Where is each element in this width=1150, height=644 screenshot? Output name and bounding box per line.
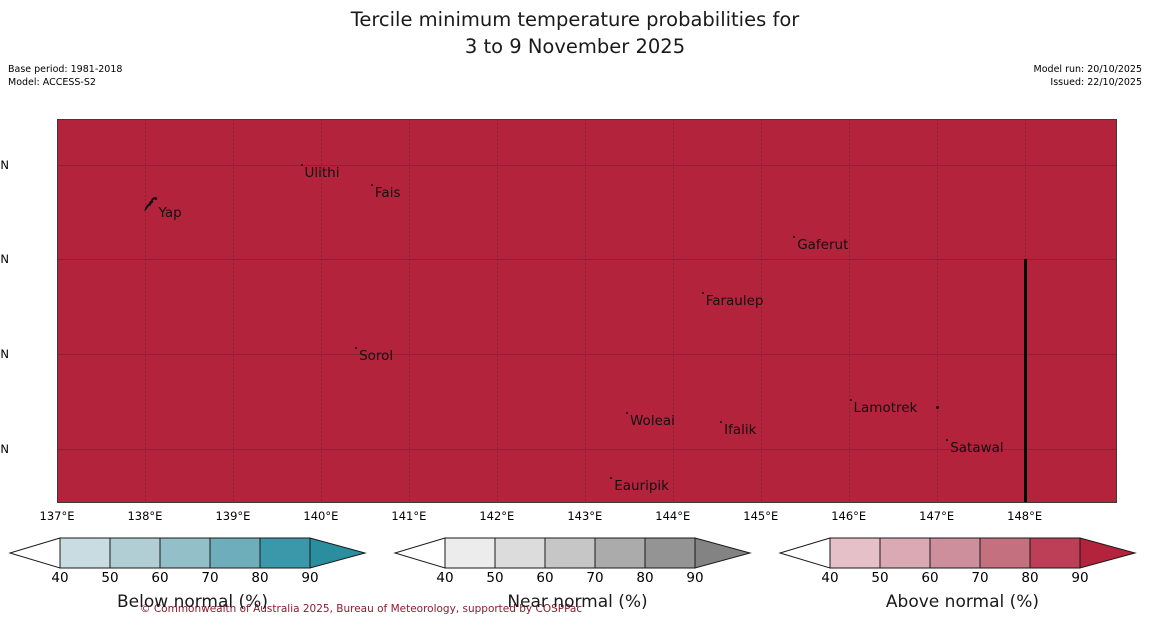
metadata-right: Model run: 20/10/2025 Issued: 22/10/2025: [1034, 64, 1142, 89]
colorbar-tick-above-normal-80: 80: [1021, 570, 1038, 586]
gridline-lon-137: [57, 119, 58, 503]
gridline-lon-138: [145, 119, 146, 503]
lat-tick-label-10: 10°N: [0, 158, 9, 172]
lon-tick-label-146: 146°E: [831, 509, 866, 523]
colorbar-tick-below-normal-50: 50: [101, 570, 118, 586]
colorbar-tick-above-normal-70: 70: [971, 570, 988, 586]
station-label-lamotrek: Lamotrek: [851, 402, 918, 416]
station-label-yap: Yap: [156, 207, 182, 221]
gridline-lon-147: [937, 119, 938, 503]
colorbar-tick-above-normal-50: 50: [871, 570, 888, 586]
station-name-text: Ifalik: [724, 424, 756, 438]
station-label-satawal: Satawal: [947, 442, 1003, 456]
map-panel[interactable]: YapUlithiFaisSorolGaferutFaraulepWoleaiI…: [57, 119, 1117, 503]
colorbar-tick-below-normal-60: 60: [151, 570, 168, 586]
metadata-left: Base period: 1981-2018 Model: ACCESS-S2: [8, 64, 122, 89]
colorbar-swatches-near-normal: [385, 534, 770, 572]
station-name-text: Yap: [159, 207, 182, 221]
colorbar-swatches-below-normal: [0, 534, 385, 572]
lat-tick-label-9: 9°N: [0, 252, 9, 266]
lon-tick-label-147: 147°E: [919, 509, 954, 523]
colorbar-tick-near-normal-40: 40: [436, 570, 453, 586]
gridline-lon-146: [849, 119, 850, 503]
colorbar-tick-below-normal-40: 40: [51, 570, 68, 586]
station-marker-dot: [793, 236, 795, 238]
gridline-lat-10: [57, 165, 1117, 166]
station-label-fais: Fais: [372, 187, 401, 201]
coastline-boundary: [1024, 259, 1027, 503]
station-label-ulithi: Ulithi: [302, 167, 340, 181]
lat-tick-label-7: 7°N: [0, 442, 9, 456]
page-title: Tercile minimum temperature probabilitie…: [0, 6, 1150, 60]
colorbar-tick-above-normal-60: 60: [921, 570, 938, 586]
colorbar-tick-near-normal-70: 70: [586, 570, 603, 586]
colorbar-tick-below-normal-70: 70: [201, 570, 218, 586]
colorbar-label-above-normal: Above normal (%): [770, 592, 1150, 612]
gridline-lon-142: [497, 119, 498, 503]
colorbar-tick-below-normal-90: 90: [301, 570, 318, 586]
colorbar-tick-above-normal-40: 40: [821, 570, 838, 586]
station-label-sorol: Sorol: [356, 350, 393, 364]
gridline-lon-145: [761, 119, 762, 503]
lon-tick-label-145: 145°E: [743, 509, 778, 523]
lon-tick-label-139: 139°E: [215, 509, 250, 523]
lon-tick-label-140: 140°E: [303, 509, 338, 523]
gridline-lat-8: [57, 354, 1117, 355]
colorbar-tick-near-normal-80: 80: [636, 570, 653, 586]
lon-tick-label-148: 148°E: [1007, 509, 1042, 523]
station-name-text: Lamotrek: [854, 402, 918, 416]
station-name-text: Sorol: [359, 350, 393, 364]
gridline-lon-141: [409, 119, 410, 503]
station-name-text: Ulithi: [305, 167, 340, 181]
colorbar-above-normal: 405060708090Above normal (%): [770, 534, 1150, 644]
lon-tick-label-143: 143°E: [567, 509, 602, 523]
lat-tick-label-8: 8°N: [0, 347, 9, 361]
station-name-text: Gaferut: [797, 239, 848, 253]
gridline-lon-139: [233, 119, 234, 503]
lon-tick-label-142: 142°E: [479, 509, 514, 523]
lon-tick-label-141: 141°E: [391, 509, 426, 523]
colorbar-label-below-normal: Below normal (%): [0, 592, 385, 612]
station-name-text: Woleai: [630, 415, 675, 429]
station-label-ifalik: Ifalik: [721, 424, 756, 438]
station-label-eauripik: Eauripik: [611, 480, 669, 494]
station-name-text: Faraulep: [706, 295, 764, 309]
lon-tick-label-138: 138°E: [127, 509, 162, 523]
station-marker-dot: [936, 406, 939, 409]
lon-tick-label-144: 144°E: [655, 509, 690, 523]
model-run-text: Model run: 20/10/2025: [1034, 64, 1142, 77]
colorbar-tick-near-normal-60: 60: [536, 570, 553, 586]
station-name-text: Fais: [375, 187, 401, 201]
station-label-woleai: Woleai: [627, 415, 675, 429]
lon-tick-label-137: 137°E: [40, 509, 75, 523]
colorbar-tick-near-normal-50: 50: [486, 570, 503, 586]
colorbar-near-normal: 405060708090Near normal (%): [385, 534, 770, 644]
model-text: Model: ACCESS-S2: [8, 77, 122, 90]
colorbar-swatches-above-normal: [770, 534, 1150, 572]
gridline-lat-9: [57, 259, 1117, 260]
colorbar-tick-above-normal-90: 90: [1071, 570, 1088, 586]
colorbar-below-normal: 405060708090Below normal (%): [0, 534, 385, 644]
gridline-lon-144: [673, 119, 674, 503]
station-marker-dot: [626, 412, 628, 414]
station-marker-dot: [850, 399, 852, 401]
station-name-text: Eauripik: [614, 480, 669, 494]
station-label-faraulep: Faraulep: [703, 295, 764, 309]
colorbar-tick-below-normal-80: 80: [251, 570, 268, 586]
yap-island-shape: [144, 196, 159, 212]
issued-text: Issued: 22/10/2025: [1034, 77, 1142, 90]
station-name-text: Satawal: [950, 442, 1003, 456]
base-period-text: Base period: 1981-2018: [8, 64, 122, 77]
station-label-gaferut: Gaferut: [794, 239, 848, 253]
gridline-lon-143: [585, 119, 586, 503]
colorbar-label-near-normal: Near normal (%): [385, 592, 770, 612]
colorbar-tick-near-normal-90: 90: [686, 570, 703, 586]
